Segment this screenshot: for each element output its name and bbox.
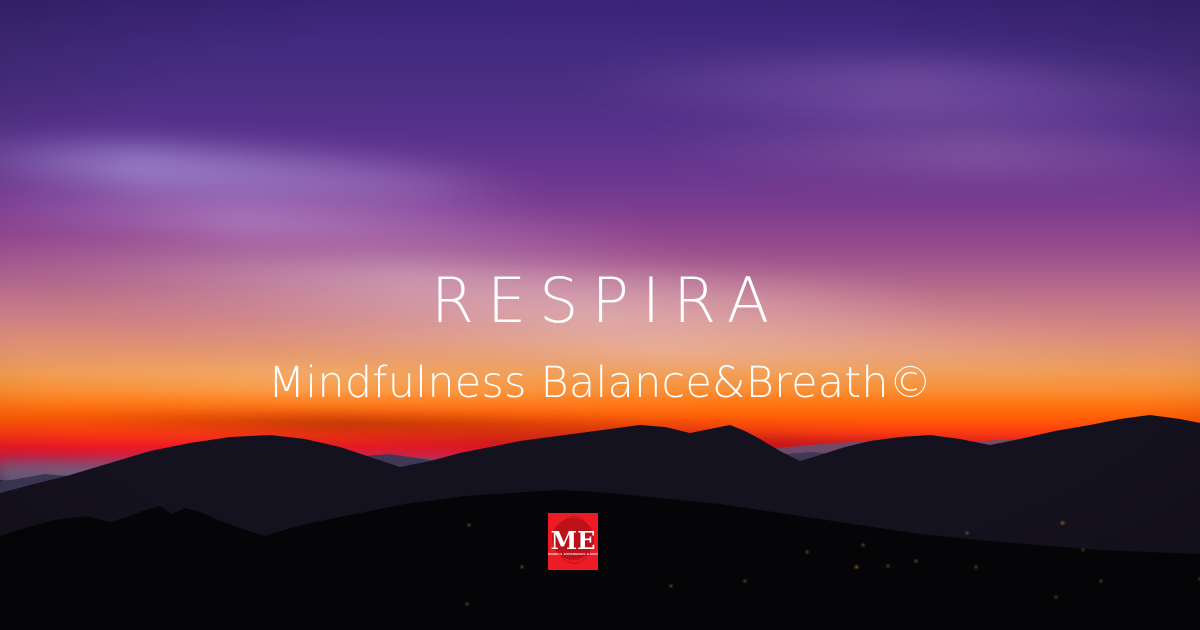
brand-logo[interactable]: ME MINDFUL EXPERIENCE & MORE <box>548 513 598 570</box>
poster-canvas: RESPIRA Mindfulness Balance&Breath© ME M… <box>0 0 1200 630</box>
logo-tagline: MINDFUL EXPERIENCE & MORE <box>548 553 598 556</box>
page-subtitle: Mindfulness Balance&Breath© <box>0 362 1200 405</box>
page-title: RESPIRA <box>0 270 1200 332</box>
mountain-ridge-foreground <box>0 470 1200 630</box>
logo-monogram: ME <box>548 529 598 553</box>
